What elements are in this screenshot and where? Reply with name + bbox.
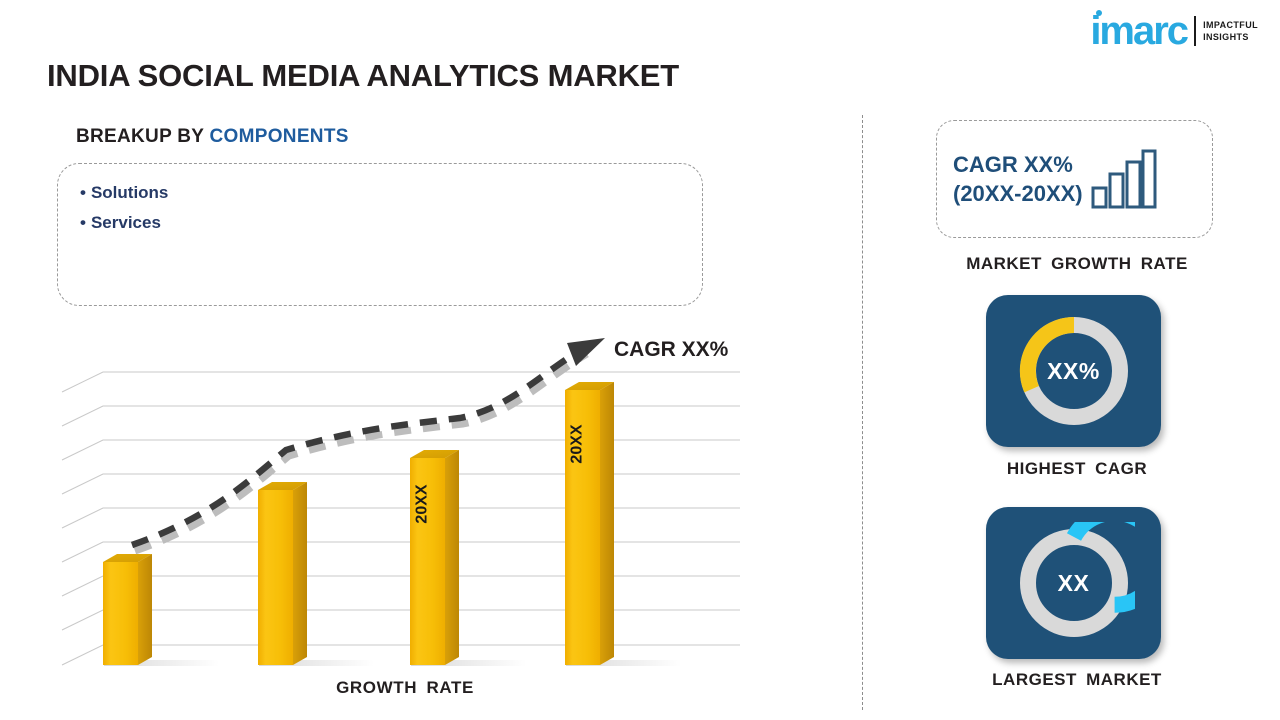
- bullet-icon: •: [80, 213, 86, 232]
- logo-divider: [1194, 16, 1196, 46]
- page-title: INDIA SOCIAL MEDIA ANALYTICS MARKET: [47, 58, 679, 94]
- section-title: BREAKUP BY COMPONENTS: [76, 126, 349, 148]
- growth-bar-chart: CAGR XX% 20XX 20XX GROWTH RATE: [60, 330, 750, 710]
- section-title-prefix: BREAKUP BY: [76, 126, 210, 147]
- logo-wordmark-text: imarc: [1090, 9, 1187, 53]
- chart-cagr-annotation: CAGR XX%: [614, 338, 728, 362]
- market-growth-rate-label: MARKET GROWTH RATE: [912, 254, 1242, 274]
- bar-chart-icon: [1091, 148, 1157, 210]
- logo-tagline-line1: IMPACTFUL: [1203, 19, 1258, 31]
- chart-x-axis-title: GROWTH RATE: [60, 678, 750, 698]
- cagr-card: CAGR XX% (20XX-20XX): [936, 120, 1213, 238]
- largest-market-tile: XX: [986, 507, 1161, 659]
- bar-2: [258, 482, 307, 665]
- highest-cagr-value: XX%: [1047, 358, 1100, 385]
- list-item-label: Services: [91, 213, 161, 232]
- cagr-card-text: CAGR XX% (20XX-20XX): [953, 150, 1083, 208]
- chart-canvas: [60, 330, 750, 675]
- logo-wordmark: imarc: [1090, 12, 1187, 50]
- list-item: •Services: [80, 208, 702, 238]
- trend-arrow-icon: [567, 338, 605, 366]
- components-box: •Solutions •Services: [57, 163, 703, 306]
- largest-market-value: XX: [1058, 570, 1090, 597]
- list-item: •Solutions: [80, 178, 702, 208]
- highest-cagr-tile: XX%: [986, 295, 1161, 447]
- logo-tagline-line2: INSIGHTS: [1203, 31, 1258, 43]
- bullet-icon: •: [80, 183, 86, 202]
- highest-cagr-label: HIGHEST CAGR: [912, 459, 1242, 479]
- imarc-logo: imarc IMPACTFUL INSIGHTS: [1090, 12, 1258, 50]
- bar-1: [103, 554, 152, 665]
- trend-line: [132, 338, 605, 551]
- bar-label-3: 20XX: [414, 484, 432, 523]
- section-title-accent: COMPONENTS: [210, 126, 349, 147]
- bar-label-4: 20XX: [569, 424, 587, 463]
- cagr-card-line1: CAGR XX%: [953, 150, 1083, 179]
- logo-tagline: IMPACTFUL INSIGHTS: [1203, 19, 1258, 43]
- panel-divider: [862, 115, 863, 710]
- largest-market-label: LARGEST MARKET: [912, 670, 1242, 690]
- list-item-label: Solutions: [91, 183, 168, 202]
- chart-gridlines: [62, 372, 740, 665]
- cagr-card-line2: (20XX-20XX): [953, 179, 1083, 208]
- bar-3: [410, 450, 459, 665]
